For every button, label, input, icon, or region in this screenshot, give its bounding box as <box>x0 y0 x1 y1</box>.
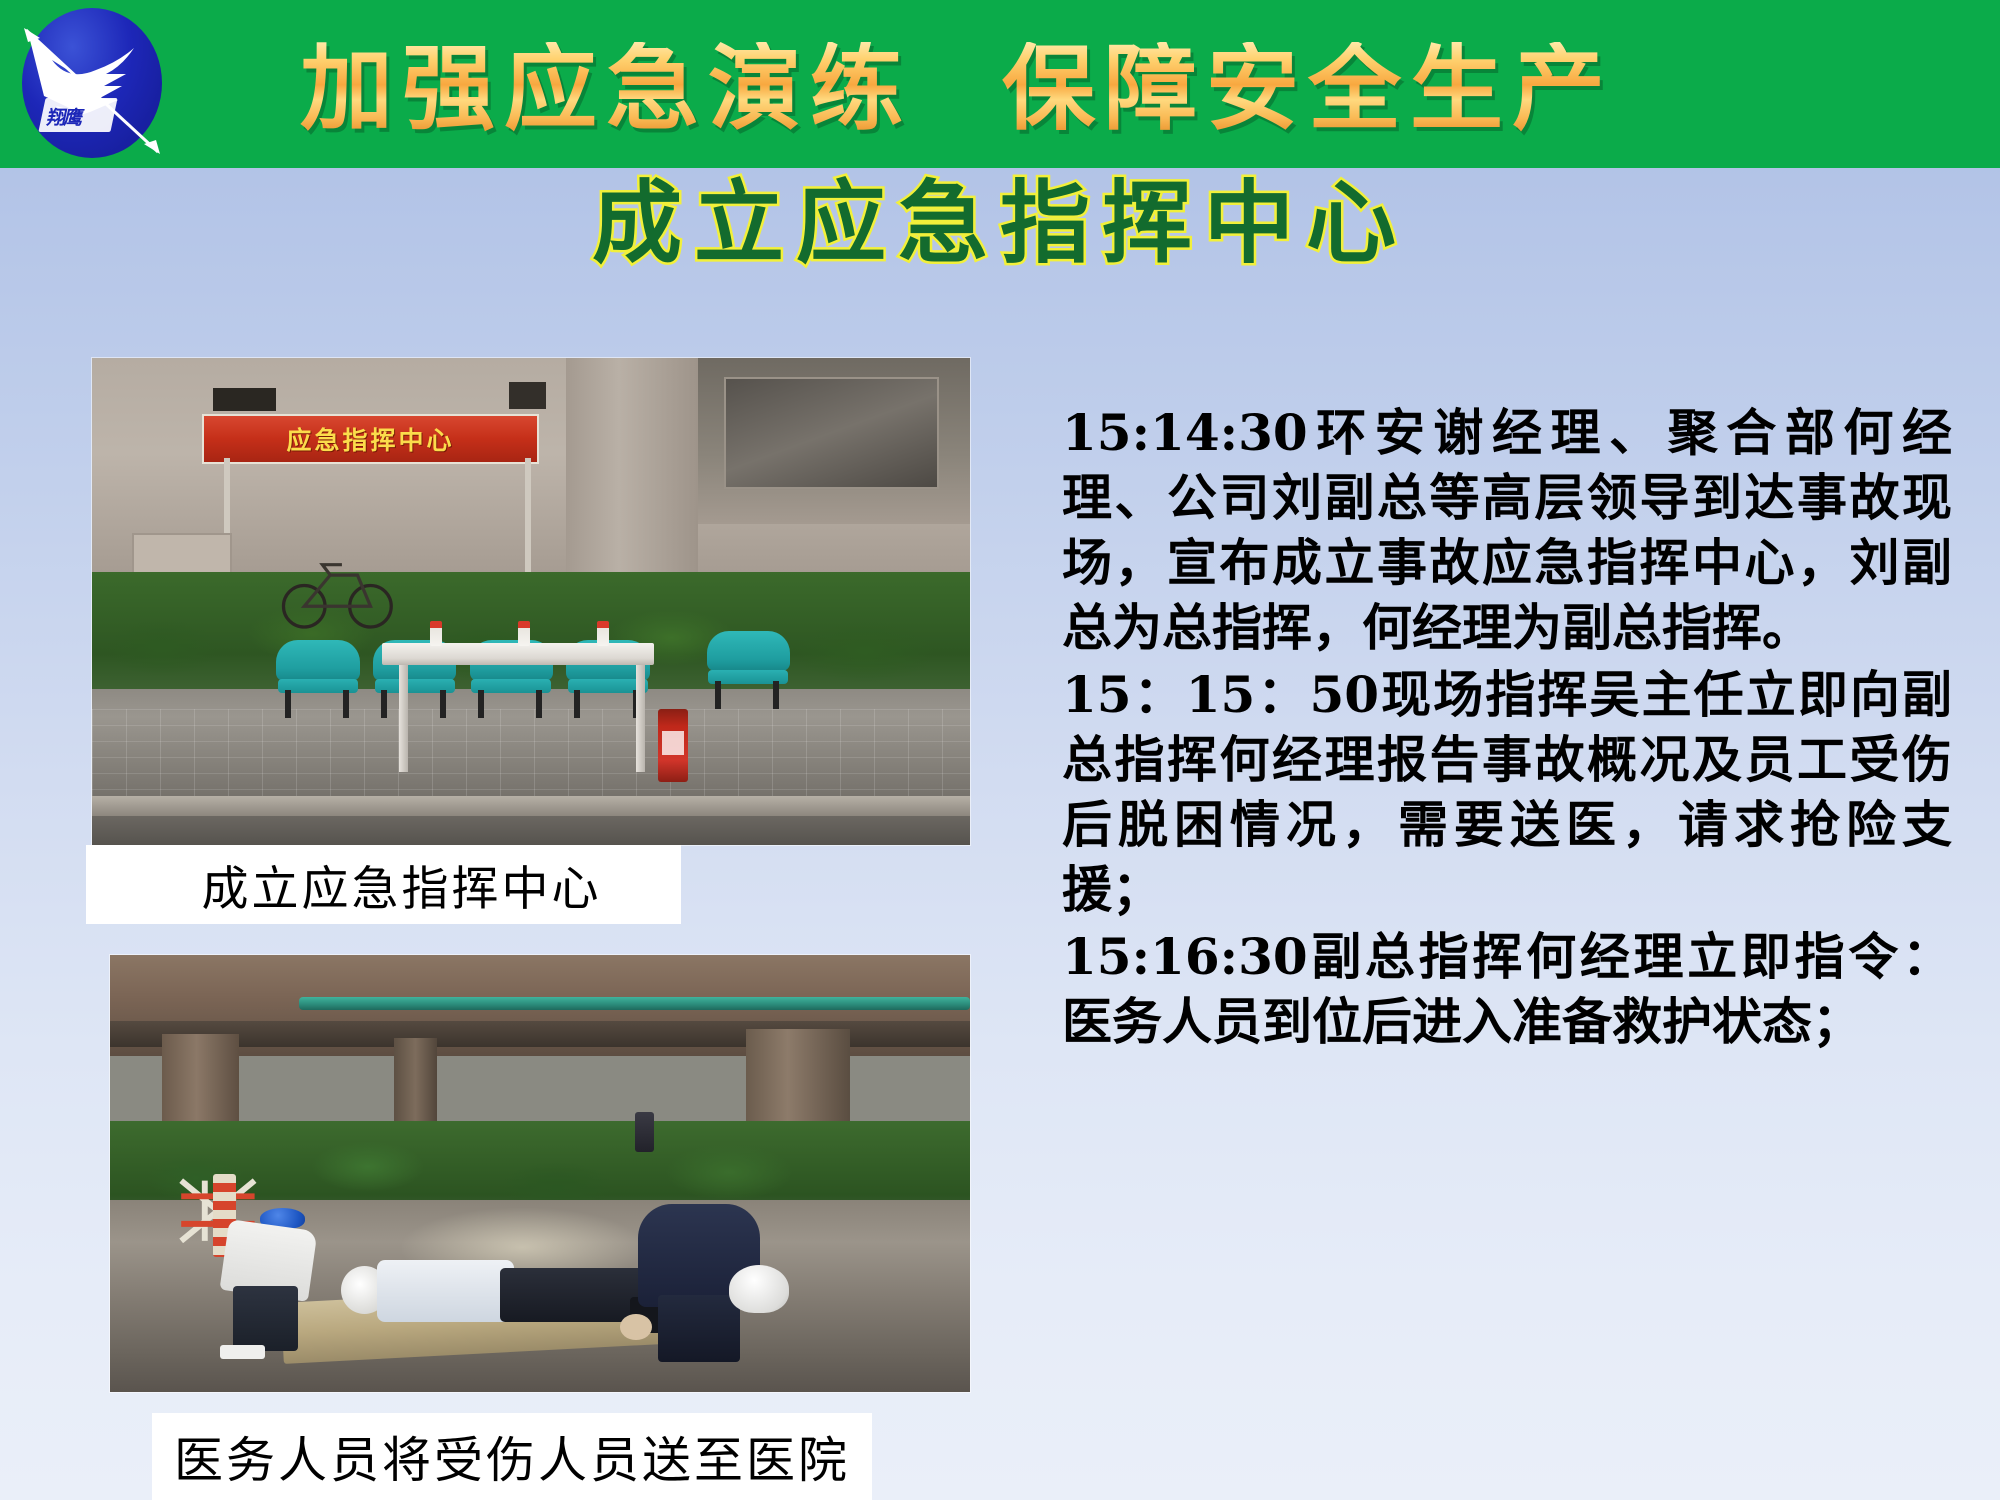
chair-leg-right <box>343 690 349 718</box>
photo2-caption-box: 医务人员将受伤人员送至医院 <box>152 1413 872 1500</box>
emergency-command-center-sign: 应急指挥中心 <box>202 414 540 464</box>
company-logo: 翔鹰 <box>8 2 176 162</box>
photo1-table-leg-right <box>636 665 645 772</box>
photo2-white-helmet-on-ground <box>729 1265 789 1313</box>
photo1-window <box>724 377 939 488</box>
photo1-wall-vent-2 <box>509 382 546 408</box>
header-banner: 翔鹰 加强应急演练 保障安全生产 <box>0 0 2000 168</box>
photo2-green-pipe <box>299 997 970 1011</box>
chair-leg-left <box>715 681 721 709</box>
body-paragraph-2: 15：15：50现场指挥吴主任立即向副总指挥何经理报告事故概况及员工受伤后脱困情… <box>1062 662 1952 922</box>
chair-back <box>707 631 790 672</box>
stretcher-rescue-photo <box>110 955 970 1392</box>
chair-leg-left <box>478 690 484 718</box>
photo1-water-bottle-2 <box>518 621 530 646</box>
photo1-caption-text: 成立应急指挥中心 <box>166 850 602 919</box>
photo1-paving <box>92 709 970 806</box>
chair-leg-left <box>285 690 291 718</box>
victim-torso <box>377 1260 514 1322</box>
photo1-water-bottle-3 <box>597 621 609 646</box>
page-title: 成立应急指挥中心 <box>0 176 2000 271</box>
banner-phrase-right: 保障安全生产 <box>1002 42 1614 135</box>
command-center-photo: 应急指挥中心 <box>92 358 970 845</box>
slide-canvas: 翔鹰 加强应急演练 保障安全生产 成立应急指挥中心 应急指挥中心 <box>0 0 2000 1500</box>
photo2-distant-person <box>635 1112 654 1151</box>
logo-wordmark-plate: 翔鹰 <box>38 98 117 132</box>
photo2-caption-text: 医务人员将受伤人员送至医院 <box>174 1421 850 1492</box>
rescuer-shoe <box>220 1345 265 1358</box>
sign-text: 应急指挥中心 <box>287 421 455 457</box>
bicycle-icon <box>259 553 417 631</box>
banner-phrase-left: 加强应急演练 <box>300 42 912 135</box>
eagle-icon <box>22 8 162 158</box>
chair-back <box>276 640 359 681</box>
photo1-chair-5 <box>707 631 790 709</box>
photo1-table <box>382 643 654 665</box>
photo1-chair-1 <box>276 640 359 718</box>
chair-leg-right <box>440 690 446 718</box>
photo1-fire-extinguisher <box>658 709 688 782</box>
rescuer2-hand <box>620 1314 652 1341</box>
photo1-wall-vent <box>213 388 276 410</box>
logo-wordmark-text: 翔鹰 <box>45 103 85 130</box>
photo1-table-leg-left <box>399 665 408 772</box>
rescuer2-legs <box>658 1295 740 1361</box>
chair-leg-left <box>574 690 580 718</box>
photo1-curb <box>92 796 970 815</box>
chair-leg-right <box>536 690 542 718</box>
body-text-block: 15:14:30环安谢经理、聚合部何经理、公司刘副总等高层领导到达事故现场，宣布… <box>1062 400 1952 1056</box>
chair-leg-left <box>381 690 387 718</box>
rescuer-legs <box>233 1286 298 1351</box>
extinguisher-label <box>662 731 683 756</box>
body-paragraph-1: 15:14:30环安谢经理、聚合部何经理、公司刘副总等高层领导到达事故现场，宣布… <box>1062 400 1952 660</box>
body-paragraph-3: 15:16:30副总指挥何经理立即指令：医务人员到位后进入准备救护状态； <box>1062 924 1952 1054</box>
photo2-rescuer-with-helmet <box>213 1208 325 1357</box>
banner-title-group: 加强应急演练 保障安全生产 <box>300 28 1980 148</box>
photo1-caption-box: 成立应急指挥中心 <box>86 845 681 924</box>
photo1-water-bottle-1 <box>430 621 442 646</box>
chair-leg-right <box>773 681 779 709</box>
